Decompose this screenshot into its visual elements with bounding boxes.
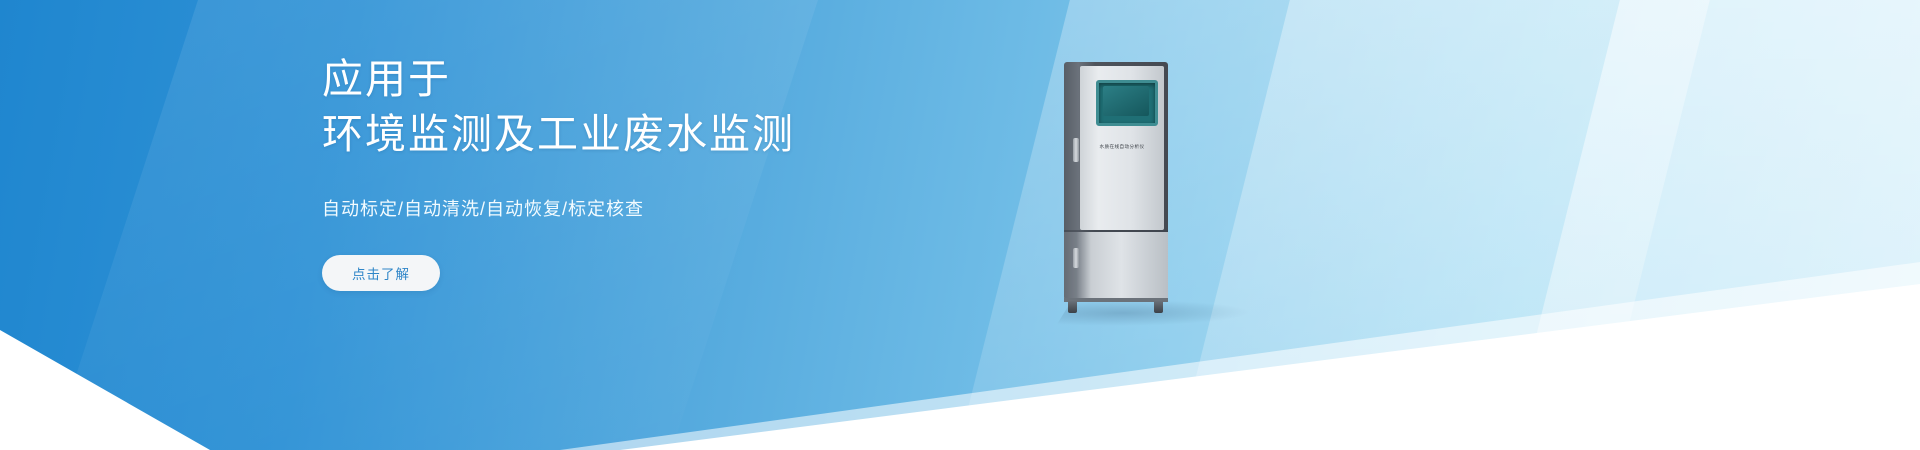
device-lower-cabinet (1064, 232, 1168, 300)
device-model-label: 水质在线自动分析仪 (1080, 144, 1164, 150)
hero-subtitle: 自动标定/自动清洗/自动恢复/标定核查 (322, 195, 1082, 221)
analyzer-device-image: 水质在线自动分析仪 (1058, 62, 1190, 324)
device-caster-right-icon (1154, 300, 1163, 313)
hero-banner: 应用于 环境监测及工业废水监测 自动标定/自动清洗/自动恢复/标定核查 点击了解… (0, 0, 1920, 450)
page-title: 应用于 环境监测及工业废水监测 (322, 52, 1082, 162)
device-base-plate (1064, 298, 1168, 302)
device-upper-handle-icon (1073, 138, 1079, 162)
hero-copy-block: 应用于 环境监测及工业废水监测 自动标定/自动清洗/自动恢复/标定核查 点击了解 (322, 52, 1082, 291)
device-caster-left-icon (1068, 300, 1077, 313)
device-display-screen (1096, 80, 1158, 126)
bottom-left-corner-notch (0, 0, 360, 450)
device-lower-handle-icon (1073, 248, 1079, 268)
device-display-inner (1103, 86, 1149, 116)
learn-more-button[interactable]: 点击了解 (322, 255, 440, 291)
